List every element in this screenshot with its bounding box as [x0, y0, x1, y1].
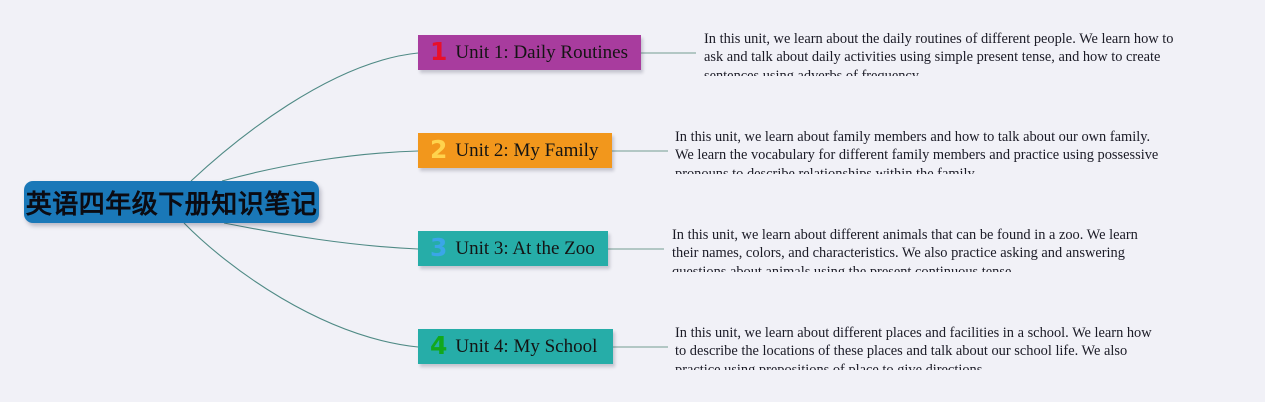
edge-root-to-unit1 [191, 53, 418, 181]
unit-title-3: Unit 3: At the Zoo [455, 238, 594, 260]
unit-node-4[interactable]: 4 Unit 4: My School [418, 329, 613, 364]
root-node-label: 英语四年级下册知识笔记 [26, 184, 318, 221]
edge-root-to-unit3 [224, 223, 418, 249]
unit-number-4: 4 [430, 333, 447, 358]
mindmap-canvas: 英语四年级下册知识笔记 1 Unit 1: Daily Routines In … [0, 0, 1265, 402]
unit-title-4: Unit 4: My School [455, 336, 597, 358]
unit-node-2[interactable]: 2 Unit 2: My Family [418, 133, 612, 168]
unit-number-1: 1 [430, 39, 447, 64]
unit-number-2: 2 [430, 137, 447, 162]
root-node[interactable]: 英语四年级下册知识笔记 [24, 181, 319, 223]
unit-description-3: In this unit, we learn about different a… [672, 226, 1158, 272]
unit-title-2: Unit 2: My Family [455, 140, 598, 162]
edge-root-to-unit2 [222, 151, 418, 181]
unit-description-4: In this unit, we learn about different p… [675, 324, 1155, 370]
unit-number-3: 3 [430, 235, 447, 260]
unit-description-2: In this unit, we learn about family memb… [675, 128, 1168, 174]
unit-title-1: Unit 1: Daily Routines [455, 42, 628, 64]
unit-node-1[interactable]: 1 Unit 1: Daily Routines [418, 35, 641, 70]
edge-root-to-unit4 [184, 223, 418, 347]
unit-description-1: In this unit, we learn about the daily r… [704, 30, 1186, 76]
unit-node-3[interactable]: 3 Unit 3: At the Zoo [418, 231, 608, 266]
